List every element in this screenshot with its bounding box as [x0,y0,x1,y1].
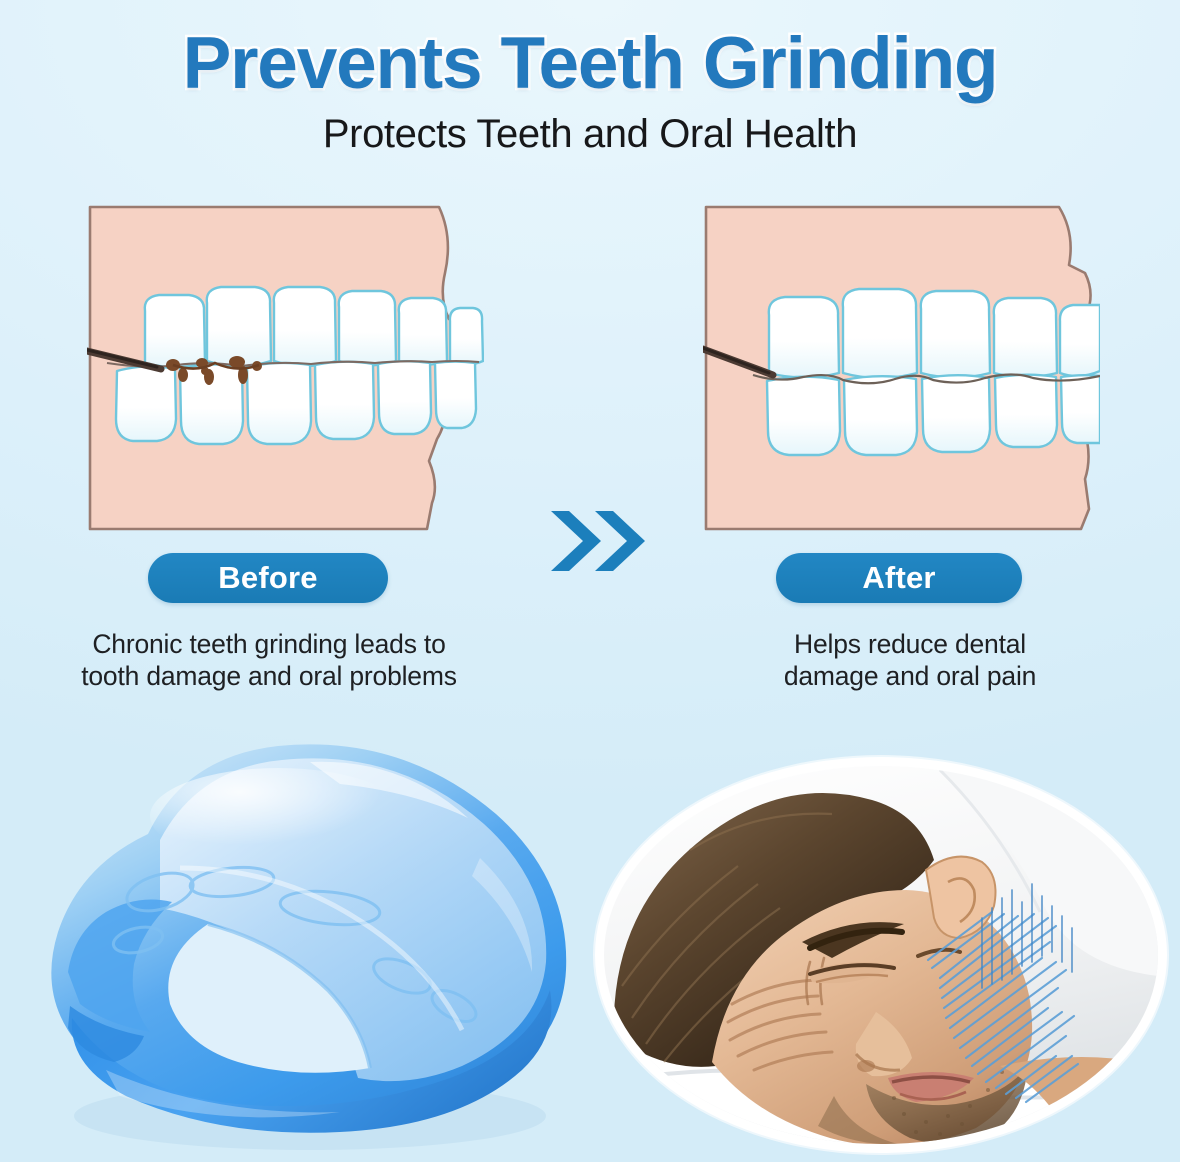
before-teeth-illustration [87,203,484,535]
double-chevron-right-icon [549,505,659,577]
after-caption: Helps reduce dental damage and oral pain [700,628,1120,693]
page-subtitle: Protects Teeth and Oral Health [0,112,1180,157]
sleeping-man-photo [595,757,1167,1153]
page-title-wrap: Prevents Teeth Grinding [0,26,1180,102]
page-title: Prevents Teeth Grinding [0,26,1180,102]
after-teeth-illustration [703,203,1100,535]
product-infographic: Prevents Teeth Grinding Protects Teeth a… [0,0,1180,1162]
before-after-comparison [0,203,1180,538]
before-caption: Chronic teeth grinding leads to tooth da… [34,628,504,693]
photo-clip [604,766,1158,1144]
before-badge: Before [148,553,388,603]
mouthguard-product-image [10,718,610,1162]
after-badge: After [776,553,1022,603]
